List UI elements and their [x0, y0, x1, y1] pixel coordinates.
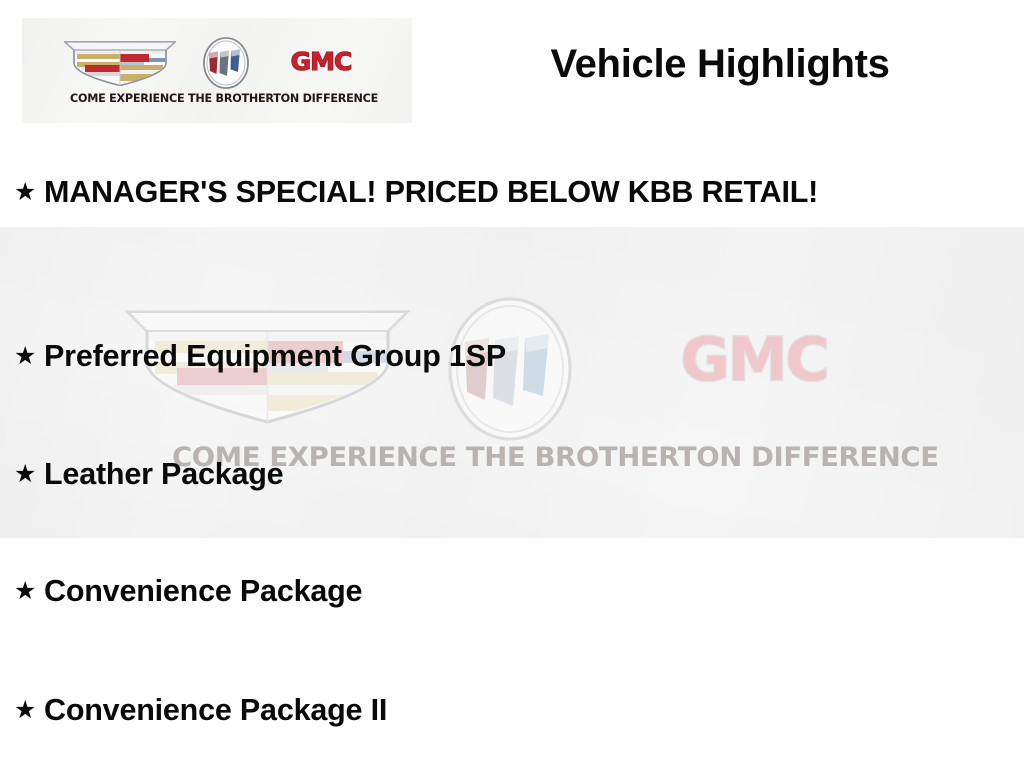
list-item: ★ Preferred Equipment Group 1SP [14, 337, 974, 375]
highlight-text: Preferred Equipment Group 1SP [44, 337, 974, 375]
list-item: ★ Convenience Package II [14, 691, 974, 729]
highlight-text: Leather Package [44, 455, 974, 493]
star-bullet-icon: ★ [14, 337, 44, 375]
highlight-text: Convenience Package II [44, 691, 974, 729]
list-item: ★ Convenience Package [14, 572, 974, 610]
star-bullet-icon: ★ [14, 691, 44, 729]
highlight-text: MANAGER'S SPECIAL! PRICED BELOW KBB RETA… [44, 173, 974, 211]
star-bullet-icon: ★ [14, 173, 44, 211]
list-item: ★ MANAGER'S SPECIAL! PRICED BELOW KBB RE… [14, 173, 974, 211]
highlight-text: Convenience Package [44, 572, 974, 610]
vehicle-highlights-list: ★ MANAGER'S SPECIAL! PRICED BELOW KBB RE… [0, 0, 1024, 768]
star-bullet-icon: ★ [14, 572, 44, 610]
list-item: ★ Leather Package [14, 455, 974, 493]
star-bullet-icon: ★ [14, 455, 44, 493]
